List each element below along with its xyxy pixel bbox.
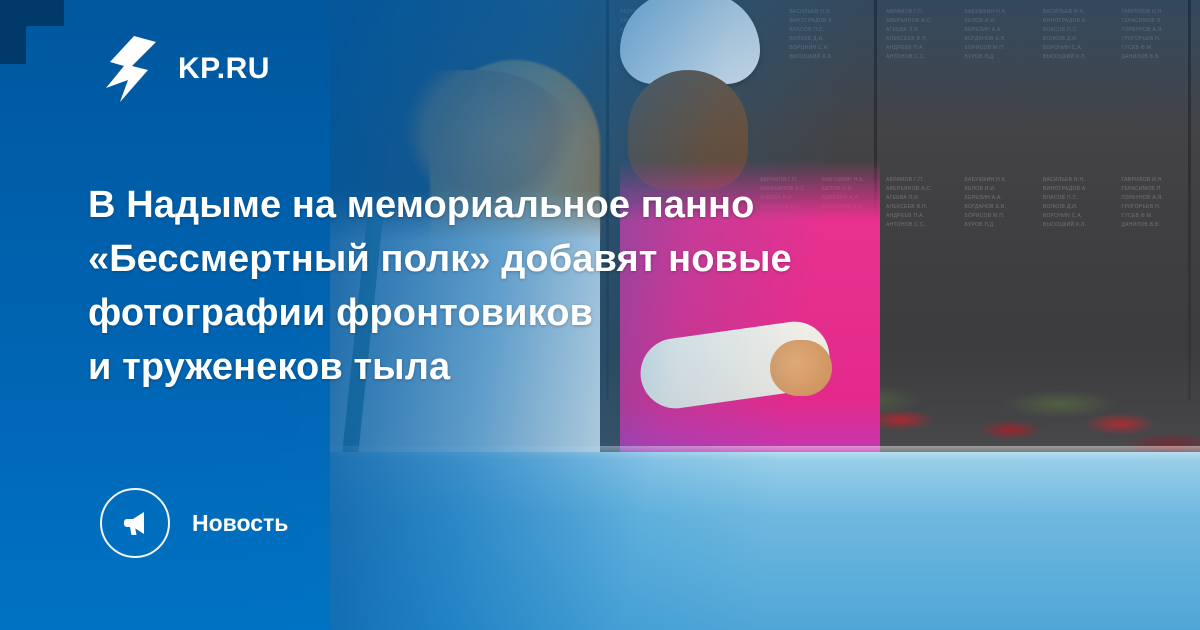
corner-accent: [0, 0, 26, 64]
content-type-badge: Новость: [100, 488, 288, 558]
headline-line-4: и труженеков тыла: [88, 340, 1018, 394]
headline-line-1: В Надыме на мемориальное панно: [88, 178, 1018, 232]
badge-label: Новость: [192, 510, 288, 537]
headline: В Надыме на мемориальное панно «Бессмерт…: [88, 178, 1018, 394]
headline-line-3: фотографии фронтовиков: [88, 286, 1018, 340]
brand-logo[interactable]: KP.RU: [104, 36, 270, 102]
brand-name: KP.RU: [178, 52, 270, 86]
social-share-card: АБРАМОВ Г.П.АВЕРЬЯНОВ А.С.АГЕЕВА Л.И.АЛЕ…: [0, 0, 1200, 630]
kp-bird-icon: [104, 36, 160, 102]
headline-line-2: «Бессмертный полк» добавят новые: [88, 232, 1018, 286]
megaphone-icon: [100, 488, 170, 558]
